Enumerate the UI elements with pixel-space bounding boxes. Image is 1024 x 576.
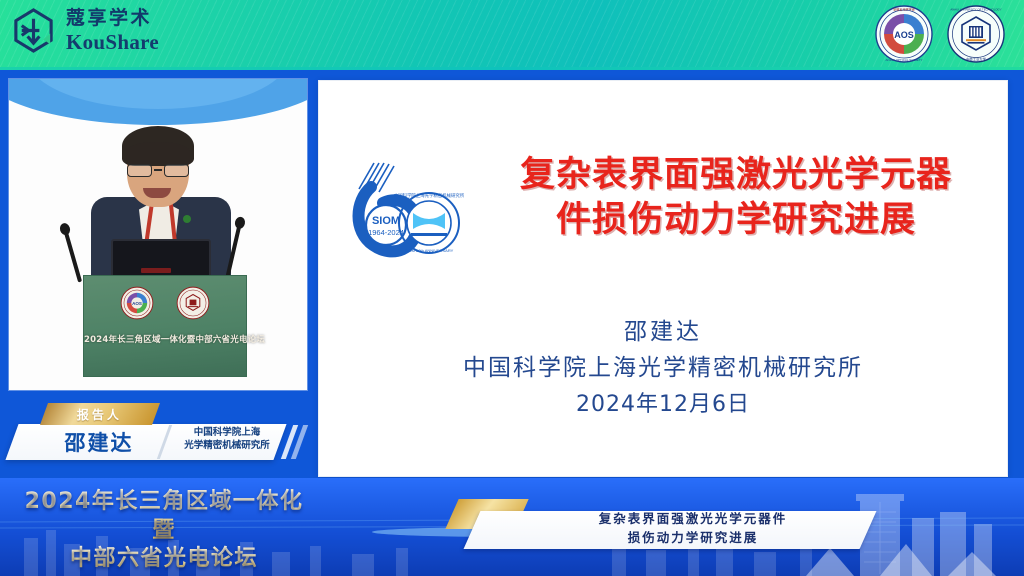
presentation-slide[interactable]: SIOM 1964-2024 中国科学院上海光学精密机械研究所 SIOM 60t… [318, 80, 1008, 477]
affiliation-line-2: 光学精密机械研究所 [176, 440, 278, 453]
svg-text:SIOM 60th ANNIVERSARY: SIOM 60th ANNIVERSARY [405, 248, 454, 253]
affiliation-line-1: 中国科学院上海 [176, 427, 278, 440]
brand-name-en: KouShare [66, 32, 159, 53]
koushare-diamond-icon [10, 7, 57, 54]
bottom-footer-bar: 2024年长三角区域一体化暨 中部六省光电论坛 复杂表界面强激光光学元器件 损伤… [0, 478, 1024, 576]
svg-text:AOS: AOS [132, 301, 142, 306]
anhui-university-of-technology-seal-icon: ANHUI UNIVERSITY OF TECHNOLOGY 安徽工业大学 [946, 4, 1006, 64]
slide-title-line-2: 件损伤动力学研究进展 [477, 198, 995, 243]
talk-title-ribbon: 复杂表界面强激光光学元器件 损伤动力学研究进展 [452, 499, 872, 549]
aos-society-seal-icon: AOS [120, 286, 154, 320]
presentation-screenshot: 蔻享学术 KouShare AOS 安徽省光学学会 [0, 0, 1024, 576]
header-organization-logos: AOS 安徽省光学学会 ANHUI OPTICAL SOCIETY [874, 4, 1006, 64]
conference-title-line-1: 2024年长三角区域一体化暨 [14, 488, 314, 545]
top-header-bar: 蔻享学术 KouShare AOS 安徽省光学学会 [0, 0, 1024, 70]
speaker-hair [122, 126, 194, 166]
podium-logos: AOS [84, 286, 246, 320]
slide-organization: 中国科学院上海光学精密机械研究所 [319, 350, 1007, 387]
slide-speaker-name: 邵建达 [319, 315, 1007, 350]
brand-name-cn: 蔻享学术 [66, 9, 159, 28]
presenter-role-tag: 报告人 [40, 403, 160, 425]
svg-text:SIOM: SIOM [372, 215, 400, 227]
speaker-name: 邵建达 [44, 428, 154, 456]
podium-conference-title: 2024年长三角区域一体化暨中部六省光电论坛 [84, 333, 246, 345]
laptop-on-podium [111, 239, 211, 279]
koushare-brand-logo[interactable]: 蔻享学术 KouShare [10, 7, 159, 54]
svg-text:安徽工业大学: 安徽工业大学 [966, 57, 986, 62]
slide-date: 2024年12月6日 [319, 386, 1007, 423]
svg-text:1964-2024: 1964-2024 [368, 228, 404, 237]
ribbon-talk-title: 复杂表界面强激光光学元器件 损伤动力学研究进展 [538, 510, 848, 548]
podium: AOS 2024年长三角区域一体化暨中部六省光电论坛 [83, 275, 247, 377]
ribbon-title-line-1: 复杂表界面强激光光学元器件 [538, 510, 848, 529]
slide-main-title: 复杂表界面强激光光学元器 件损伤动力学研究进展 [469, 153, 1008, 243]
svg-text:安徽省光学学会: 安徽省光学学会 [893, 7, 915, 12]
svg-text:ANHUI OPTICAL SOCIETY: ANHUI OPTICAL SOCIETY [886, 58, 923, 62]
speaker-affiliation: 中国科学院上海 光学精密机械研究所 [176, 427, 278, 453]
conference-title-line-2: 中部六省光电论坛 [14, 545, 314, 574]
conference-title-footer: 2024年长三角区域一体化暨 中部六省光电论坛 [14, 488, 314, 574]
svg-text:AOS: AOS [894, 30, 914, 40]
svg-text:ANHUI UNIVERSITY OF TECHNOLOGY: ANHUI UNIVERSITY OF TECHNOLOGY [950, 7, 1001, 11]
svg-text:中国科学院上海光学精密机械研究所: 中国科学院上海光学精密机械研究所 [394, 192, 465, 199]
eyeglasses-icon [125, 164, 191, 177]
presenter-role-label: 报告人 [77, 406, 122, 423]
slide-metadata: 邵建达 中国科学院上海光学精密机械研究所 2024年12月6日 [319, 315, 1007, 424]
slide-title-row: SIOM 1964-2024 中国科学院上海光学精密机械研究所 SIOM 60t… [319, 153, 1008, 271]
anhui-university-of-technology-seal-icon [176, 286, 210, 320]
siom-60th-anniversary-logo-icon: SIOM 1964-2024 中国科学院上海光学精密机械研究所 SIOM 60t… [341, 153, 469, 271]
speaker-name-banner: 报告人 邵建达 中国科学院上海 光学精密机械研究所 [0, 394, 310, 472]
ribbon-title-line-2: 损伤动力学研究进展 [538, 529, 848, 548]
lapel-pin [183, 215, 191, 223]
aos-society-seal-icon: AOS 安徽省光学学会 ANHUI OPTICAL SOCIETY [874, 4, 934, 64]
slide-title-line-1: 复杂表界面强激光光学元器 [477, 153, 995, 198]
live-video-panel[interactable]: AOS 2024年长三角区域一体化暨中部六省光电论坛 [9, 79, 307, 390]
